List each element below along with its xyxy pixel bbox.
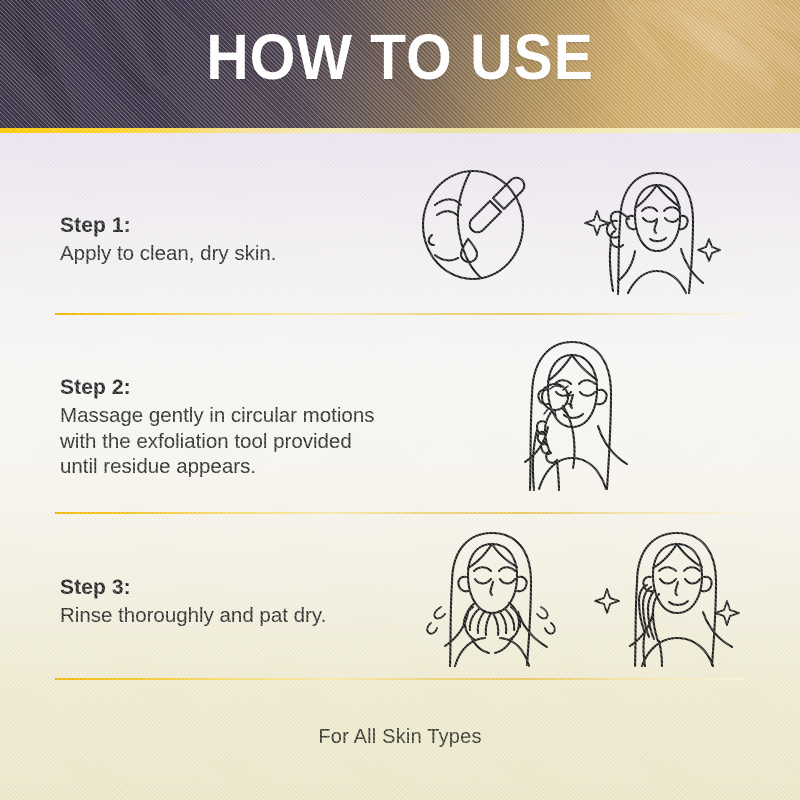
face-dropper-circle-icon (415, 163, 540, 288)
step-2-text: Step 2: Massage gently in circular motio… (60, 376, 374, 480)
section-divider-2 (55, 512, 745, 514)
step-3-text: Step 3: Rinse thoroughly and pat dry. (60, 576, 326, 629)
woman-applying-serum-icon (573, 163, 723, 298)
woman-using-exfoliation-tool-icon (487, 334, 642, 494)
step-1-body: Apply to clean, dry skin. (60, 241, 277, 267)
section-divider-1 (55, 313, 745, 315)
header-banner: HOW TO USE (0, 0, 800, 128)
woman-patting-face-dry-icon (585, 525, 745, 670)
step-2-body-line-3: until residue appears. (60, 454, 374, 480)
step-row-2: Step 2: Massage gently in circular motio… (0, 372, 800, 492)
step-3-label: Step 3: (60, 576, 326, 600)
step-2-body-line-2: with the exfoliation tool provided (60, 429, 374, 455)
step-1-text: Step 1: Apply to clean, dry skin. (60, 214, 277, 267)
footer-note: For All Skin Types (0, 726, 800, 749)
step-1-label: Step 1: (60, 214, 277, 238)
step-3-body: Rinse thoroughly and pat dry. (60, 603, 326, 629)
page-title: HOW TO USE (32, 20, 768, 94)
header-accent-bar (0, 128, 800, 133)
step-2-label: Step 2: (60, 376, 374, 400)
section-divider-3 (55, 678, 745, 680)
how-to-use-poster: HOW TO USE Step 1: Apply to clean, dry s… (0, 0, 800, 800)
woman-rinsing-face-icon (405, 525, 565, 670)
step-2-body-line-1: Massage gently in circular motions (60, 403, 374, 429)
